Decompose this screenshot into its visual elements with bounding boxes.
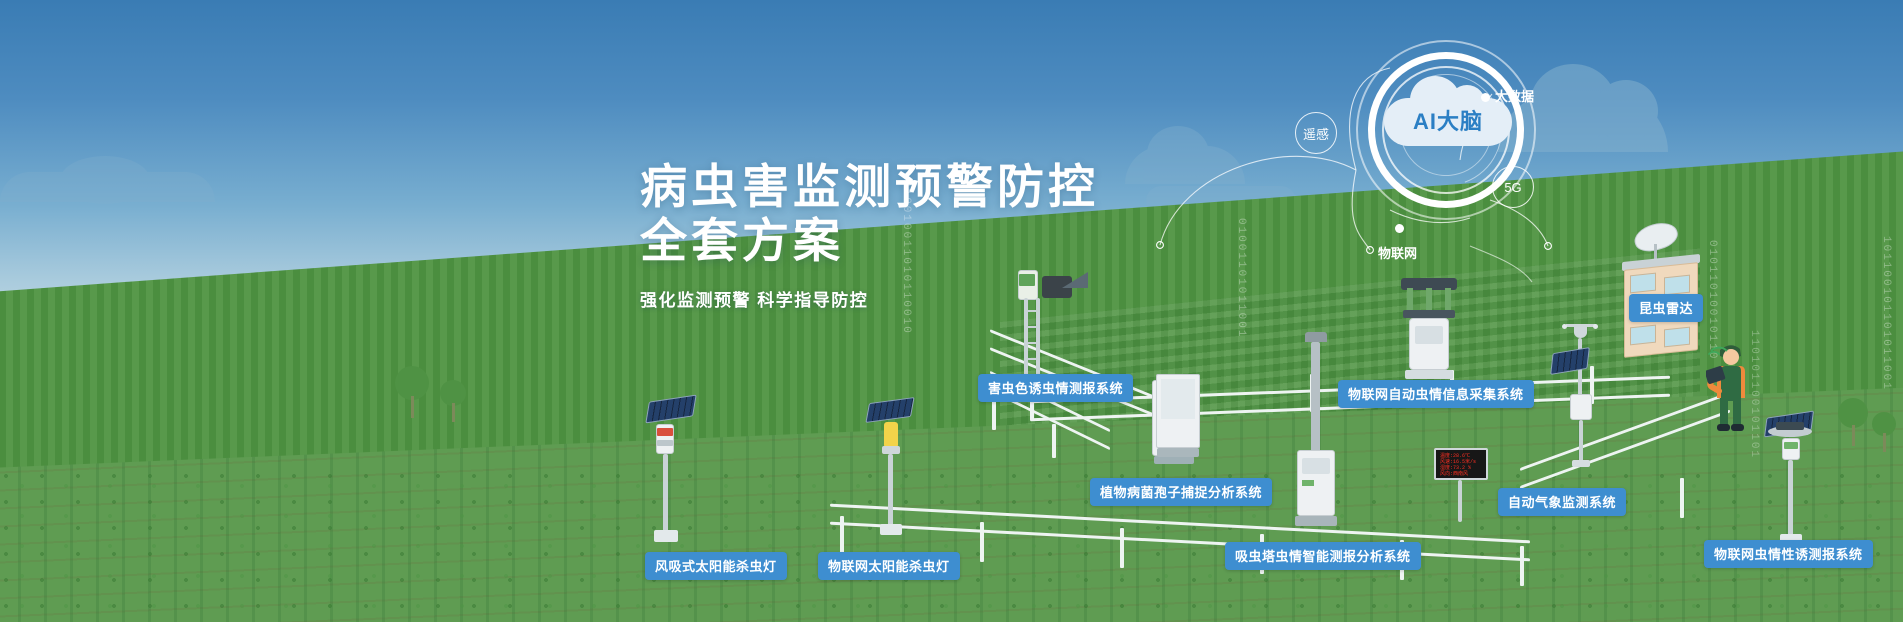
ai-brain-label: AI大脑 — [1384, 104, 1512, 136]
binary-strip: 010010011010110010 — [900, 180, 912, 290]
node-big-data-label: 大数据 — [1495, 86, 1534, 105]
device-field-cabinet[interactable] — [1156, 374, 1204, 470]
tree — [395, 366, 429, 418]
tree — [1838, 398, 1868, 446]
label-insect-radar[interactable]: 昆虫雷达 — [1629, 294, 1703, 322]
node-5g-label: 5G — [1504, 180, 1521, 195]
device-insect-radar[interactable] — [1608, 224, 1728, 354]
label-spore-capture[interactable]: 植物病菌孢子捕捉分析系统 — [1090, 478, 1272, 506]
tree — [440, 380, 466, 422]
device-iot-solar-lamp[interactable] — [862, 400, 922, 540]
page-title-line-2: 全套方案 — [640, 214, 1099, 268]
device-ground-sensor[interactable] — [1768, 420, 1812, 442]
node-5g[interactable]: 5G — [1492, 166, 1534, 208]
label-auto-weather[interactable]: 自动气象监测系统 — [1498, 488, 1626, 516]
node-iot-dot — [1395, 224, 1404, 233]
binary-strip: 101100101101011001 — [1880, 236, 1892, 356]
label-wind-suction-lamp[interactable]: 风吸式太阳能杀虫灯 — [645, 552, 787, 580]
device-color-lure-forecast[interactable] — [1000, 270, 1090, 380]
page-title-line-1: 病虫害监测预警防控 — [640, 160, 1099, 214]
tree — [1872, 412, 1896, 452]
binary-strip: 01001101011001 — [1235, 218, 1247, 308]
label-iot-pheromone[interactable]: 物联网虫情性诱测报系统 — [1704, 540, 1873, 568]
label-color-lure-forecast[interactable]: 害虫色诱虫情测报系统 — [978, 374, 1133, 402]
label-suction-tower[interactable]: 吸虫塔虫情智能测报分析系统 — [1225, 542, 1421, 570]
node-iot-label: 物联网 — [1378, 243, 1417, 262]
banner-stage: 病虫害监测预警防控 全套方案 强化监测预警 科学指导防控 AI大脑 遥感 5G … — [0, 0, 1903, 622]
label-iot-auto-collect[interactable]: 物联网自动虫情信息采集系统 — [1338, 380, 1534, 408]
cloud-icon — [0, 172, 215, 202]
node-remote-sensing[interactable]: 遥感 — [1295, 112, 1337, 154]
device-suction-tower[interactable] — [1295, 332, 1339, 542]
worker-figure — [1706, 338, 1756, 434]
device-iot-auto-collect[interactable] — [1393, 278, 1465, 386]
label-iot-solar-lamp[interactable]: 物联网太阳能杀虫灯 — [818, 552, 960, 580]
node-big-data-dot — [1481, 93, 1490, 102]
led-weather-display: 温度:28.6℃ 风速:16.5米/s 湿度:73.2 % 风向:西南风 — [1434, 448, 1488, 480]
led-board-pole — [1458, 480, 1462, 522]
node-remote-sensing-label: 遥感 — [1303, 124, 1329, 143]
led-line-wind-direction: 风向:西南风 — [1440, 471, 1482, 477]
device-wind-suction-lamp[interactable] — [640, 398, 700, 548]
